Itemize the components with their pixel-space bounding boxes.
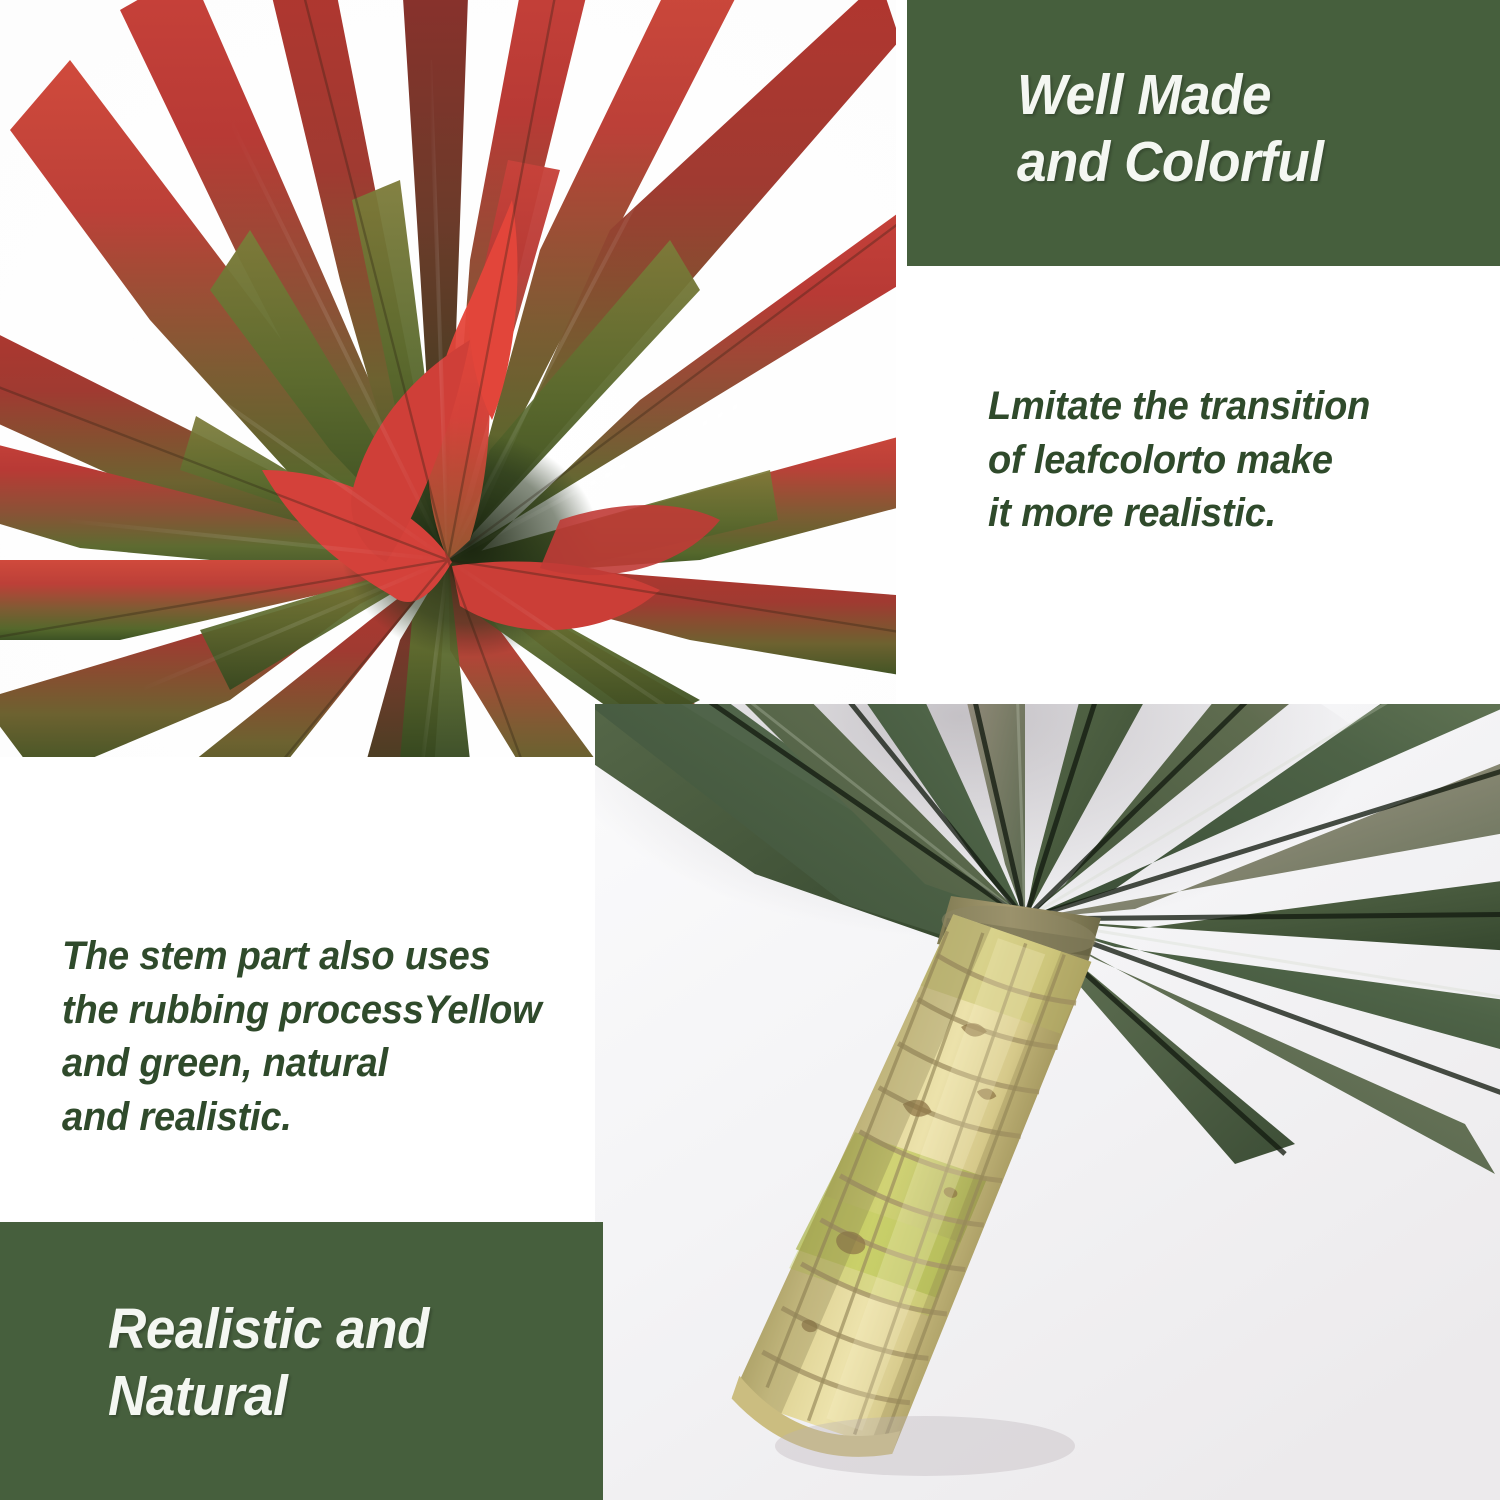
body-copy-imitate-transition: Lmitate the transition of leafcolorto ma… bbox=[988, 380, 1463, 541]
infographic-canvas: Well Made and Colorful Lmitate the trans… bbox=[0, 0, 1500, 1500]
panel-realistic-natural: Realistic and Natural bbox=[0, 1222, 603, 1500]
panel-well-made: Well Made and Colorful bbox=[907, 0, 1500, 266]
heading-well-made: Well Made and Colorful bbox=[1017, 62, 1324, 197]
body-copy-stem-rubbing: The stem part also uses the rubbing proc… bbox=[62, 930, 566, 1144]
photo-plant-stem bbox=[595, 704, 1500, 1500]
photo-plant-closeup bbox=[0, 0, 896, 757]
heading-realistic-natural: Realistic and Natural bbox=[108, 1296, 429, 1431]
